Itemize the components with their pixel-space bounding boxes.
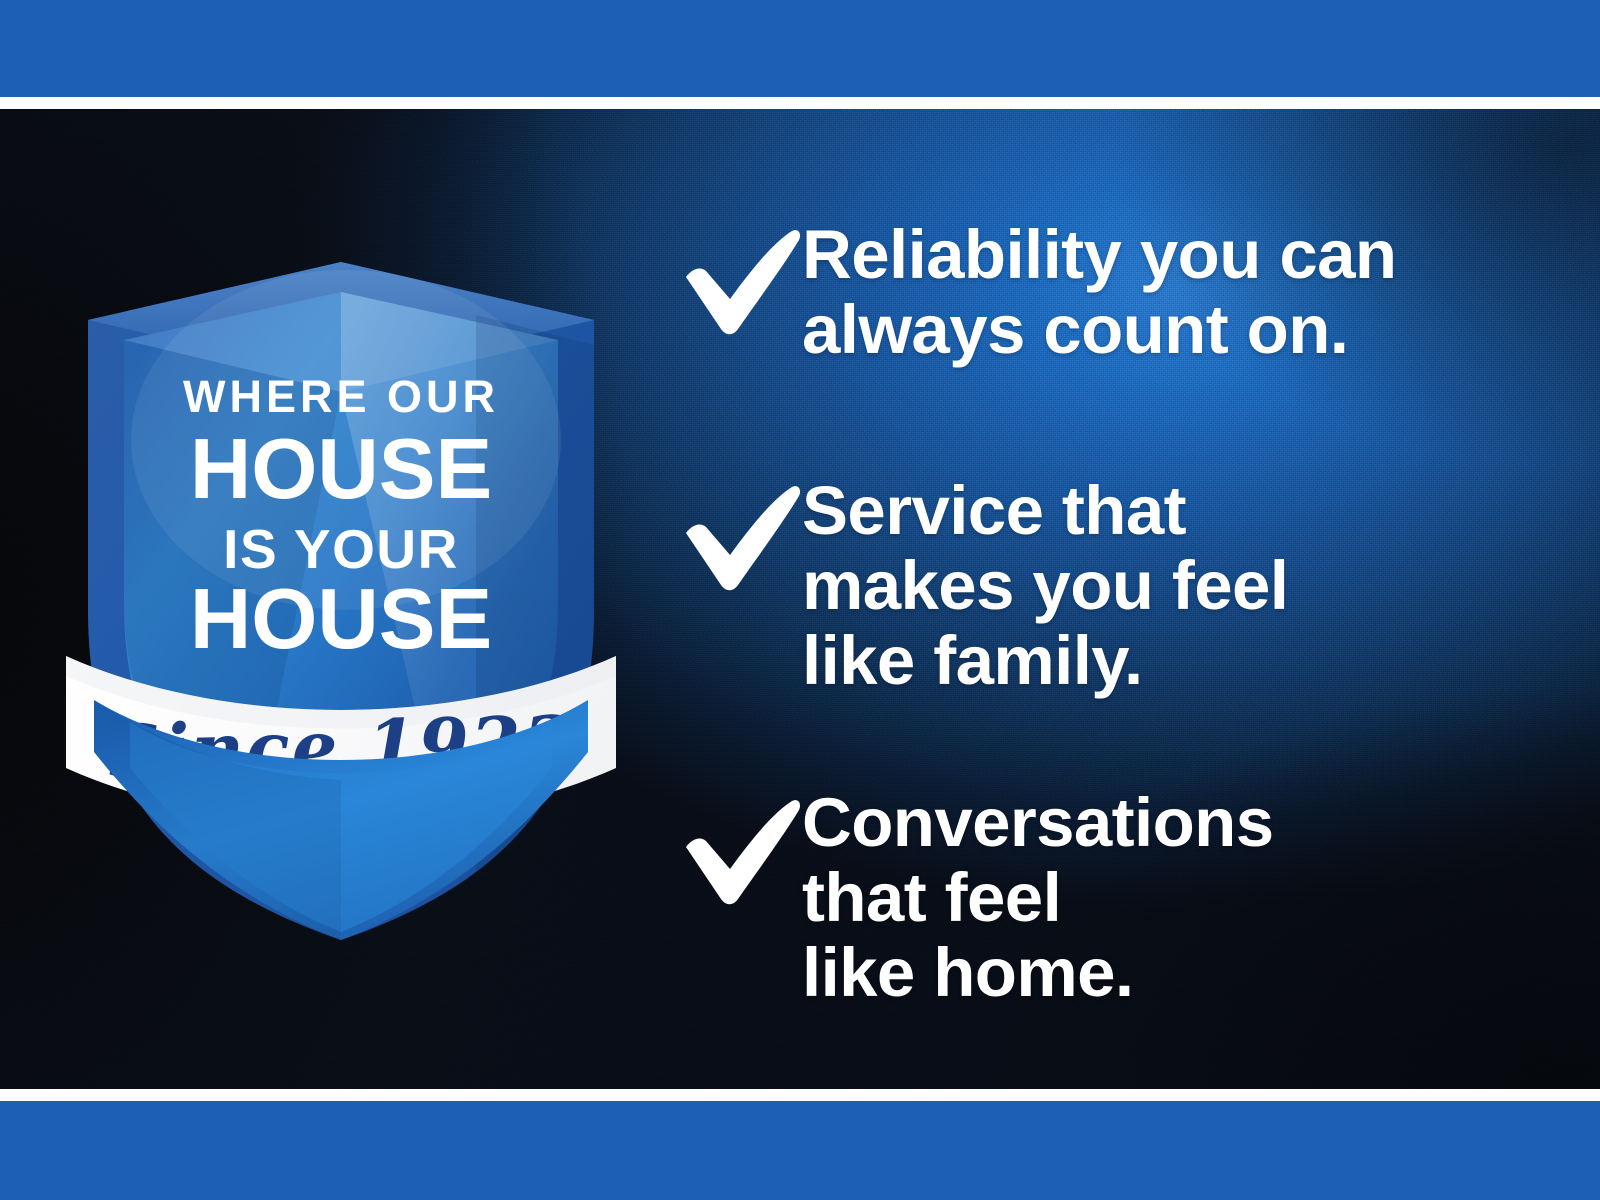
bottom-brand-bar [0, 1101, 1600, 1200]
shield-line-3: IS YOUR [223, 518, 459, 580]
top-divider [0, 97, 1600, 109]
shield-line-4: HOUSE [190, 572, 492, 667]
top-brand-bar [0, 0, 1600, 97]
bottom-divider [0, 1089, 1600, 1101]
shield-wordmark: WHERE OUR HOUSE IS YOUR HOUSE [183, 371, 499, 667]
benefit-item: Conversations that feel like home. [672, 781, 1274, 1011]
shield-badge: WHERE OUR HOUSE IS YOUR HOUSE Since 1923 [46, 140, 636, 970]
check-icon [672, 471, 802, 591]
benefit-text: Reliability you can always count on. [802, 211, 1396, 367]
shield-line-1: WHERE OUR [183, 371, 499, 422]
benefit-list: Reliability you can always count on. Ser… [672, 109, 1572, 1089]
check-icon [672, 785, 802, 905]
benefit-text: Conversations that feel like home. [802, 781, 1274, 1011]
shield-line-2: HOUSE [190, 422, 492, 517]
benefit-item: Reliability you can always count on. [672, 211, 1396, 367]
check-icon [672, 215, 802, 335]
promo-graphic: WHERE OUR HOUSE IS YOUR HOUSE Since 1923 [0, 0, 1600, 1200]
benefit-text: Service that makes you feel like family. [802, 467, 1288, 699]
benefit-item: Service that makes you feel like family. [672, 467, 1288, 699]
